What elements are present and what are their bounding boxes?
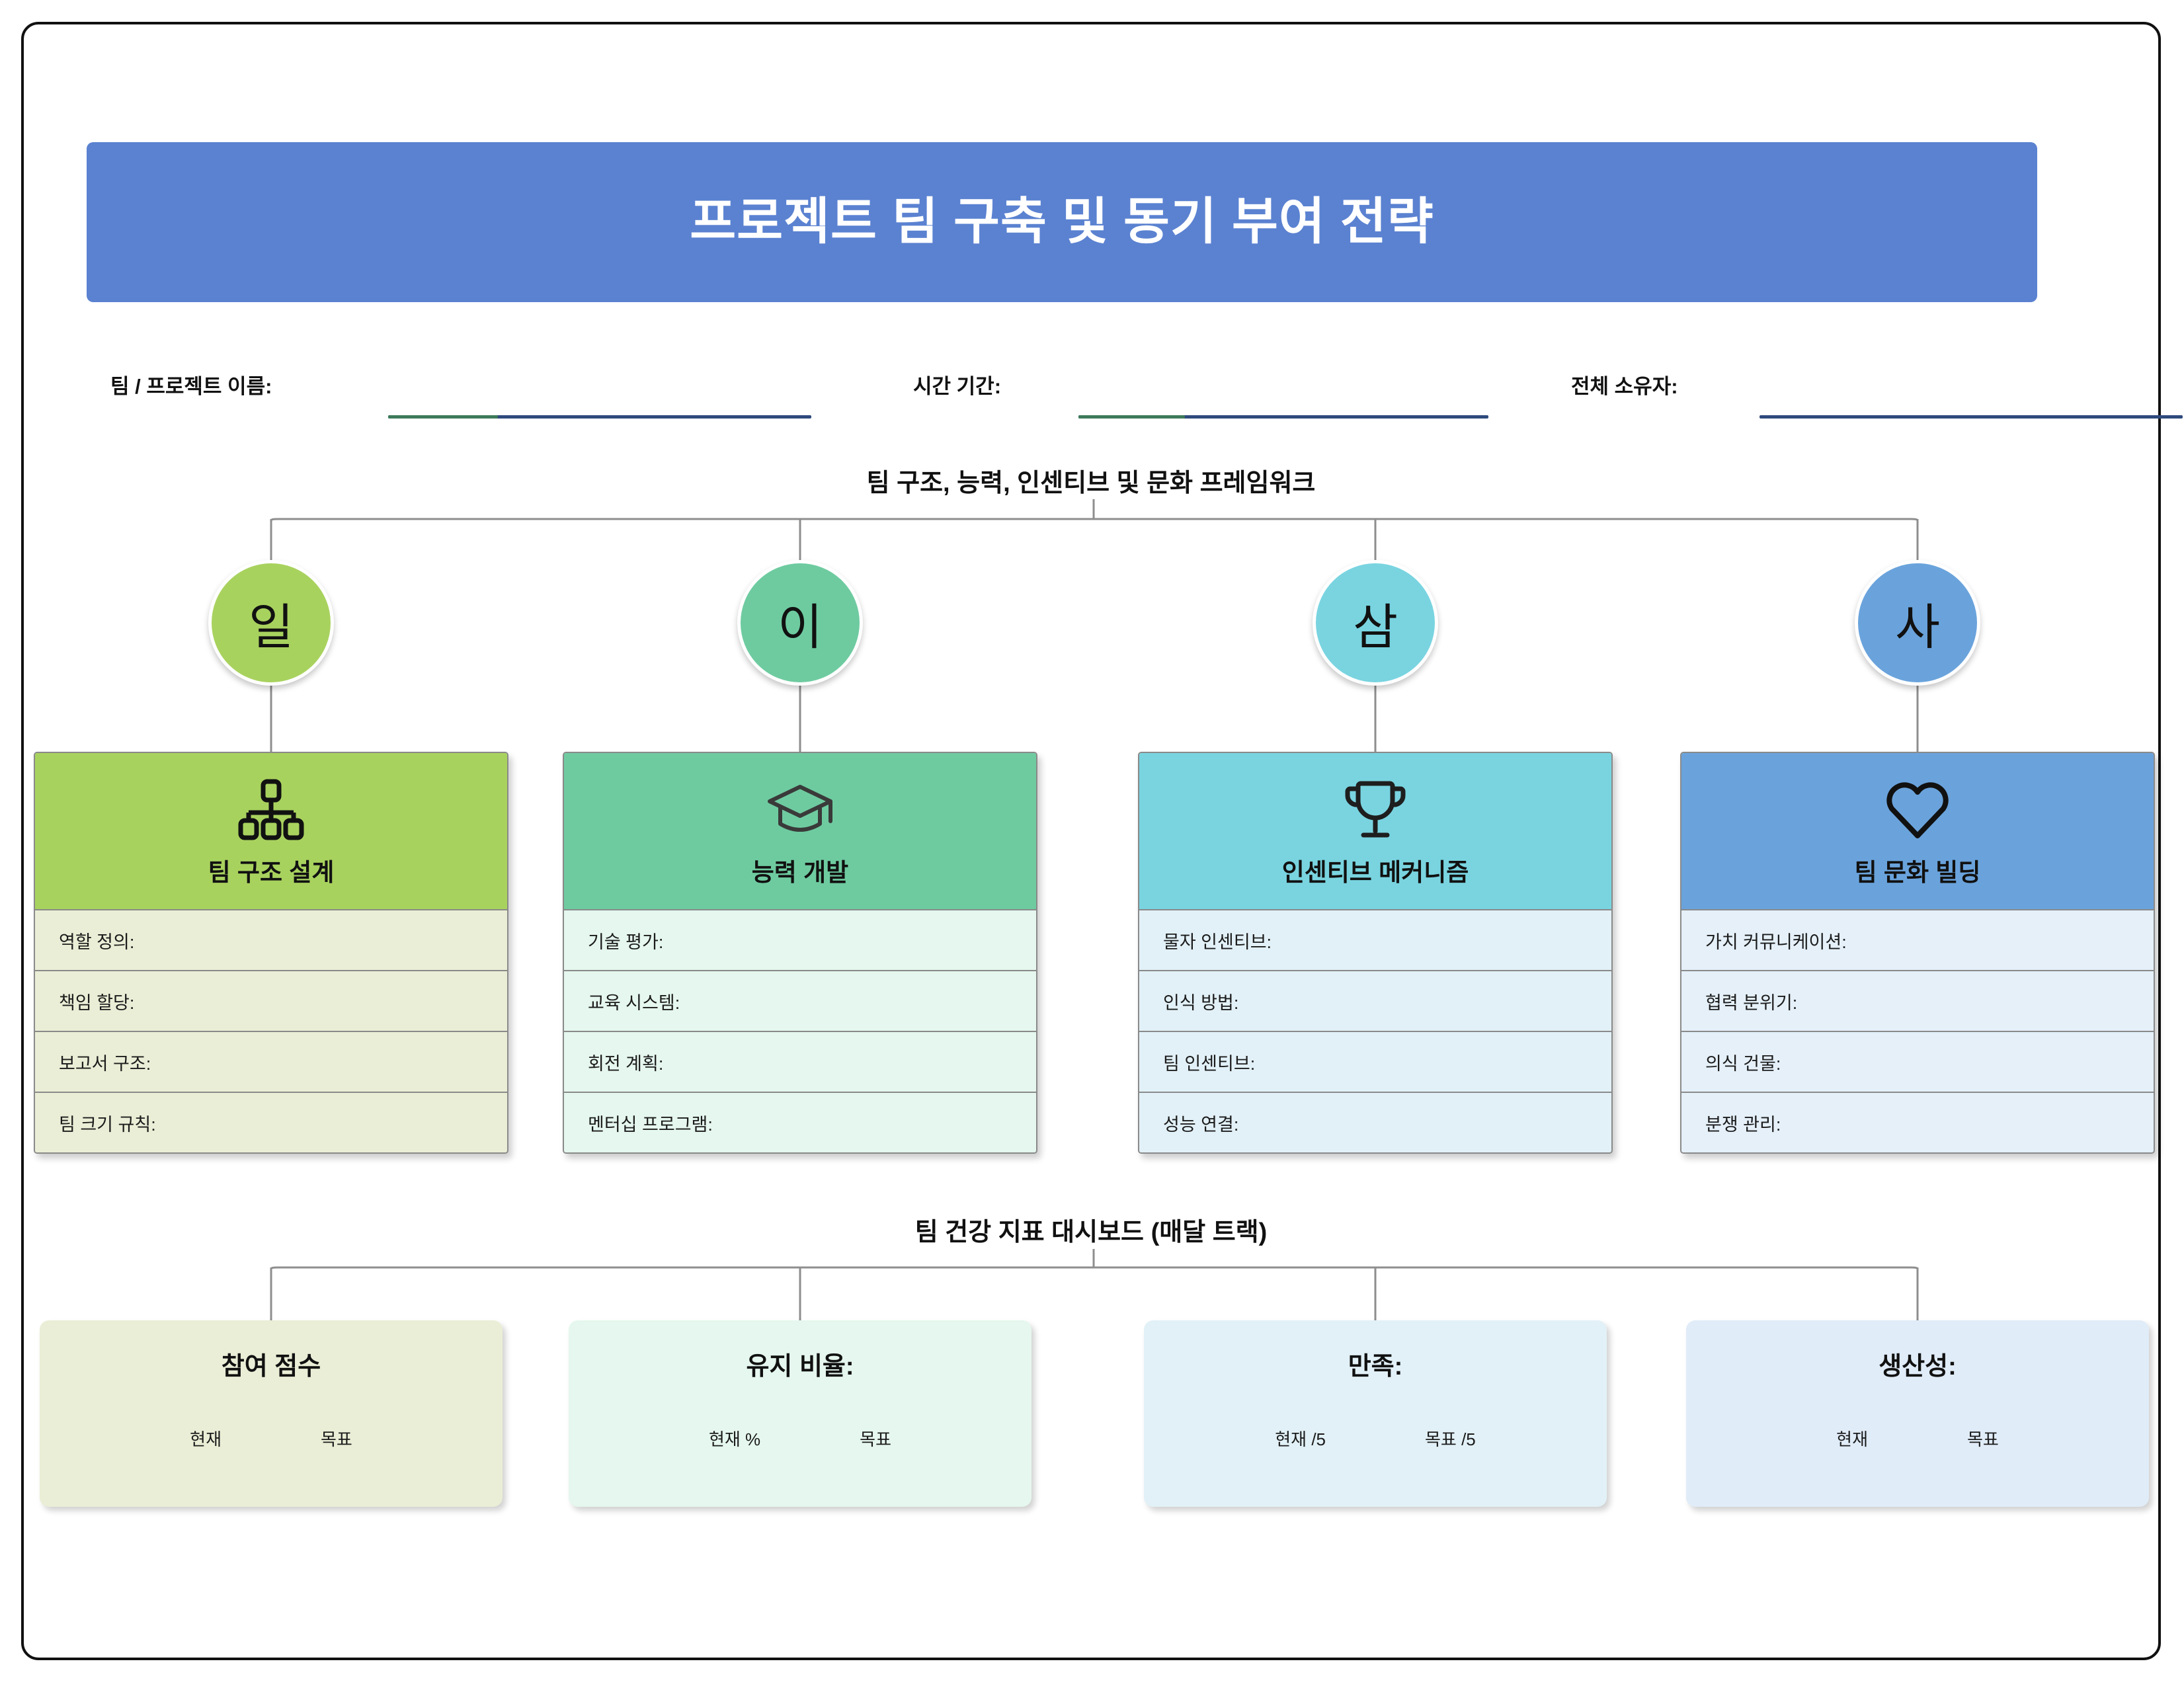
org-chart-icon [237, 774, 305, 846]
pillar-row[interactable]: 의식 건물: [1681, 1031, 2154, 1092]
pillar-row-list-1: 역할 정의: 책임 할당: 보고서 구조: 팀 크기 규칙: [35, 909, 507, 1152]
framework-badge-2[interactable]: 이 [737, 560, 863, 686]
pillar-row[interactable]: 성능 연결: [1139, 1092, 1611, 1152]
pillar-row[interactable]: 책임 할당: [35, 970, 507, 1031]
meta-label-time-period: 시간 기간: [913, 370, 1001, 399]
dashboard-metric-cards: 참여 점수 현재 목표 유지 비율: 현재 % 목표 만족: 현재 /5 목표 … [24, 1320, 2164, 1512]
pillar-row[interactable]: 팀 크기 규칙: [35, 1092, 507, 1152]
heart-icon [1882, 774, 1953, 846]
pillar-row[interactable]: 가치 커뮤니케이션: [1681, 909, 2154, 970]
metric-leg-target-4[interactable]: 목표 [1967, 1426, 1999, 1451]
framework-badge-label-4: 사 [1895, 588, 1940, 659]
framework-pillars: 팀 구조 설계 역할 정의: 책임 할당: 보고서 구조: 팀 크기 규칙: [24, 752, 2164, 1188]
metric-card-retention-rate[interactable]: 유지 비율: 현재 % 목표 [569, 1320, 1031, 1507]
framework-badge-3[interactable]: 삼 [1313, 560, 1438, 686]
pillar-row[interactable]: 보고서 구조: [35, 1031, 507, 1092]
pillar-row[interactable]: 회전 계획: [564, 1031, 1036, 1092]
pillar-title-3: 인센티브 메커니즘 [1282, 852, 1469, 888]
metric-title-3: 만족: [1144, 1345, 1607, 1382]
metric-card-satisfaction[interactable]: 만족: 현재 /5 목표 /5 [1144, 1320, 1607, 1507]
pillar-row[interactable]: 분쟁 관리: [1681, 1092, 2154, 1152]
pillar-title-1: 팀 구조 설계 [208, 852, 335, 888]
framework-badge-4[interactable]: 사 [1855, 560, 1980, 686]
pillar-card-capability-development[interactable]: 능력 개발 기술 평가: 교육 시스템: 회전 계획: 멘터십 프로그램: [563, 752, 1037, 1154]
pillar-row[interactable]: 팀 인센티브: [1139, 1031, 1611, 1092]
meta-label-team-name: 팀 / 프로젝트 이름: [110, 370, 272, 399]
metric-leg-target-3[interactable]: 목표 /5 [1425, 1426, 1476, 1451]
worksheet-page: 프로젝트 팀 구축 및 동기 부여 전략 팀 / 프로젝트 이름: 시간 기간:… [21, 22, 2161, 1660]
pillar-card-team-culture[interactable]: 팀 문화 빌딩 가치 커뮤니케이션: 협력 분위기: 의식 건물: 분쟁 관리: [1680, 752, 2155, 1154]
pillar-row[interactable]: 물자 인센티브: [1139, 909, 1611, 970]
metric-legs-3: 현재 /5 목표 /5 [1144, 1426, 1607, 1451]
pillar-row[interactable]: 협력 분위기: [1681, 970, 2154, 1031]
metric-card-productivity[interactable]: 생산성: 현재 목표 [1686, 1320, 2149, 1507]
pillar-header-2: 능력 개발 [564, 753, 1036, 909]
meta-input-overall-owner[interactable] [1759, 415, 2183, 419]
pillar-header-4: 팀 문화 빌딩 [1681, 753, 2154, 909]
pillar-row-list-3: 물자 인센티브: 인식 방법: 팀 인센티브: 성능 연결: [1139, 909, 1611, 1152]
pillar-row[interactable]: 멘터십 프로그램: [564, 1092, 1036, 1152]
framework-node-badges: 일 이 삼 사 [24, 560, 2164, 692]
metric-legs-1: 현재 목표 [40, 1426, 503, 1451]
pillar-row[interactable]: 인식 방법: [1139, 970, 1611, 1031]
metric-leg-target-2[interactable]: 목표 [860, 1426, 891, 1451]
meta-label-overall-owner: 전체 소유자: [1571, 370, 1678, 399]
meta-input-team-name[interactable] [388, 415, 811, 419]
meta-field-time-period: 시간 기간: [834, 355, 1515, 428]
pillar-row[interactable]: 기술 평가: [564, 909, 1036, 970]
metric-leg-target-1[interactable]: 목표 [321, 1426, 352, 1451]
pillar-title-4: 팀 문화 빌딩 [1855, 852, 1981, 888]
metric-title-1: 참여 점수 [40, 1345, 503, 1382]
page-title: 프로젝트 팀 구축 및 동기 부여 전략 [690, 197, 1434, 247]
pillar-header-1: 팀 구조 설계 [35, 753, 507, 909]
trophy-icon [1342, 774, 1408, 846]
meta-field-overall-owner: 전체 소유자: [1512, 355, 2107, 428]
metric-legs-4: 현재 목표 [1686, 1426, 2149, 1451]
meta-fields-row: 팀 / 프로젝트 이름: 시간 기간: 전체 소유자: [87, 355, 2037, 428]
page-title-banner: 프로젝트 팀 구축 및 동기 부여 전략 [87, 142, 2037, 302]
metric-legs-2: 현재 % 목표 [569, 1426, 1031, 1451]
metric-leg-current-2[interactable]: 현재 % [709, 1426, 760, 1451]
pillar-row[interactable]: 역할 정의: [35, 909, 507, 970]
framework-heading: 팀 구조, 능력, 인센티브 및 문화 프레임워크 [24, 462, 2158, 499]
metric-leg-current-4[interactable]: 현재 [1836, 1426, 1868, 1451]
pillar-card-team-structure[interactable]: 팀 구조 설계 역할 정의: 책임 할당: 보고서 구조: 팀 크기 규칙: [34, 752, 508, 1154]
pillar-row-list-4: 가치 커뮤니케이션: 협력 분위기: 의식 건물: 분쟁 관리: [1681, 909, 2154, 1152]
pillar-card-incentive-mechanism[interactable]: 인센티브 메커니즘 물자 인센티브: 인식 방법: 팀 인센티브: 성능 연결: [1138, 752, 1613, 1154]
meta-input-time-period[interactable] [1078, 415, 1488, 419]
dashboard-heading: 팀 건강 지표 대시보드 (매달 트랙) [24, 1211, 2158, 1248]
pillar-row[interactable]: 교육 시스템: [564, 970, 1036, 1031]
metric-card-engagement-score[interactable]: 참여 점수 현재 목표 [40, 1320, 503, 1507]
framework-badge-label-2: 이 [778, 588, 823, 659]
pillar-row-list-2: 기술 평가: 교육 시스템: 회전 계획: 멘터십 프로그램: [564, 909, 1036, 1152]
graduation-cap-icon [764, 774, 836, 846]
meta-field-team-name: 팀 / 프로젝트 이름: [110, 355, 811, 428]
metric-leg-current-1[interactable]: 현재 [190, 1426, 222, 1451]
framework-badge-label-1: 일 [249, 588, 294, 659]
metric-title-4: 생산성: [1686, 1345, 2149, 1382]
framework-badge-label-3: 삼 [1353, 588, 1398, 659]
metric-leg-current-3[interactable]: 현재 /5 [1275, 1426, 1326, 1451]
framework-badge-1[interactable]: 일 [208, 560, 334, 686]
pillar-header-3: 인센티브 메커니즘 [1139, 753, 1611, 909]
metric-title-2: 유지 비율: [569, 1345, 1031, 1382]
pillar-title-2: 능력 개발 [752, 852, 848, 888]
